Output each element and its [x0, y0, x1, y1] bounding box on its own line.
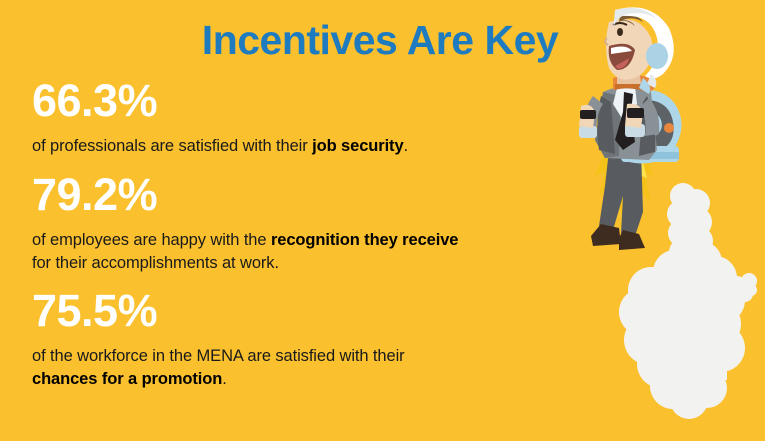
stat-text-bold: job security [312, 137, 403, 155]
stat-value: 66.3% [32, 78, 408, 123]
rocket-flame-icon [595, 148, 653, 226]
shoe-left-icon [591, 224, 621, 246]
shoe-right-icon [619, 230, 645, 250]
stat-text-line2: for their accomplishments at work. [32, 254, 279, 272]
stat-value: 79.2% [32, 172, 458, 217]
stat-block: 66.3% of professionals are satisfied wit… [32, 78, 408, 158]
stat-text-bold: chances for a promotion [32, 370, 222, 388]
stat-description: of professionals are satisfied with thei… [32, 135, 408, 158]
torso-group [595, 86, 657, 160]
trousers-icon [599, 150, 643, 236]
stat-text-bold: recognition they receive [271, 231, 458, 249]
stat-block: 75.5% of the workforce in the MENA are s… [32, 288, 405, 391]
cuff-left-icon [579, 126, 597, 138]
cuff-right-icon [625, 124, 645, 137]
smoke-puff-small-icon [727, 273, 757, 303]
hand-left-icon [579, 105, 595, 128]
legs-group [591, 150, 645, 250]
stat-text-line1: of the workforce in the MENA are satisfi… [32, 347, 405, 365]
stat-text-suffix: . [404, 137, 408, 155]
stat-text-suffix: . [222, 370, 226, 388]
stat-description: of the workforce in the MENA are satisfi… [32, 345, 405, 391]
stat-value: 75.5% [32, 288, 405, 333]
collar-icon [613, 74, 655, 92]
arms-group [579, 96, 659, 138]
hand-right-icon [625, 104, 643, 128]
stat-text-prefix: of employees are happy with the [32, 231, 271, 249]
jetpack-icon [621, 90, 682, 164]
smoke-trail-icon [619, 183, 745, 419]
infographic-canvas: Incentives Are Key 66.3% of professional… [0, 0, 765, 441]
stat-text-prefix: of professionals are satisfied with thei… [32, 137, 312, 155]
page-title: Incentives Are Key [0, 18, 765, 63]
stat-description: of employees are happy with the recognit… [32, 229, 458, 275]
businessman-with-jetpack-illustration [565, 0, 765, 441]
stat-block: 79.2% of employees are happy with the re… [32, 172, 458, 275]
